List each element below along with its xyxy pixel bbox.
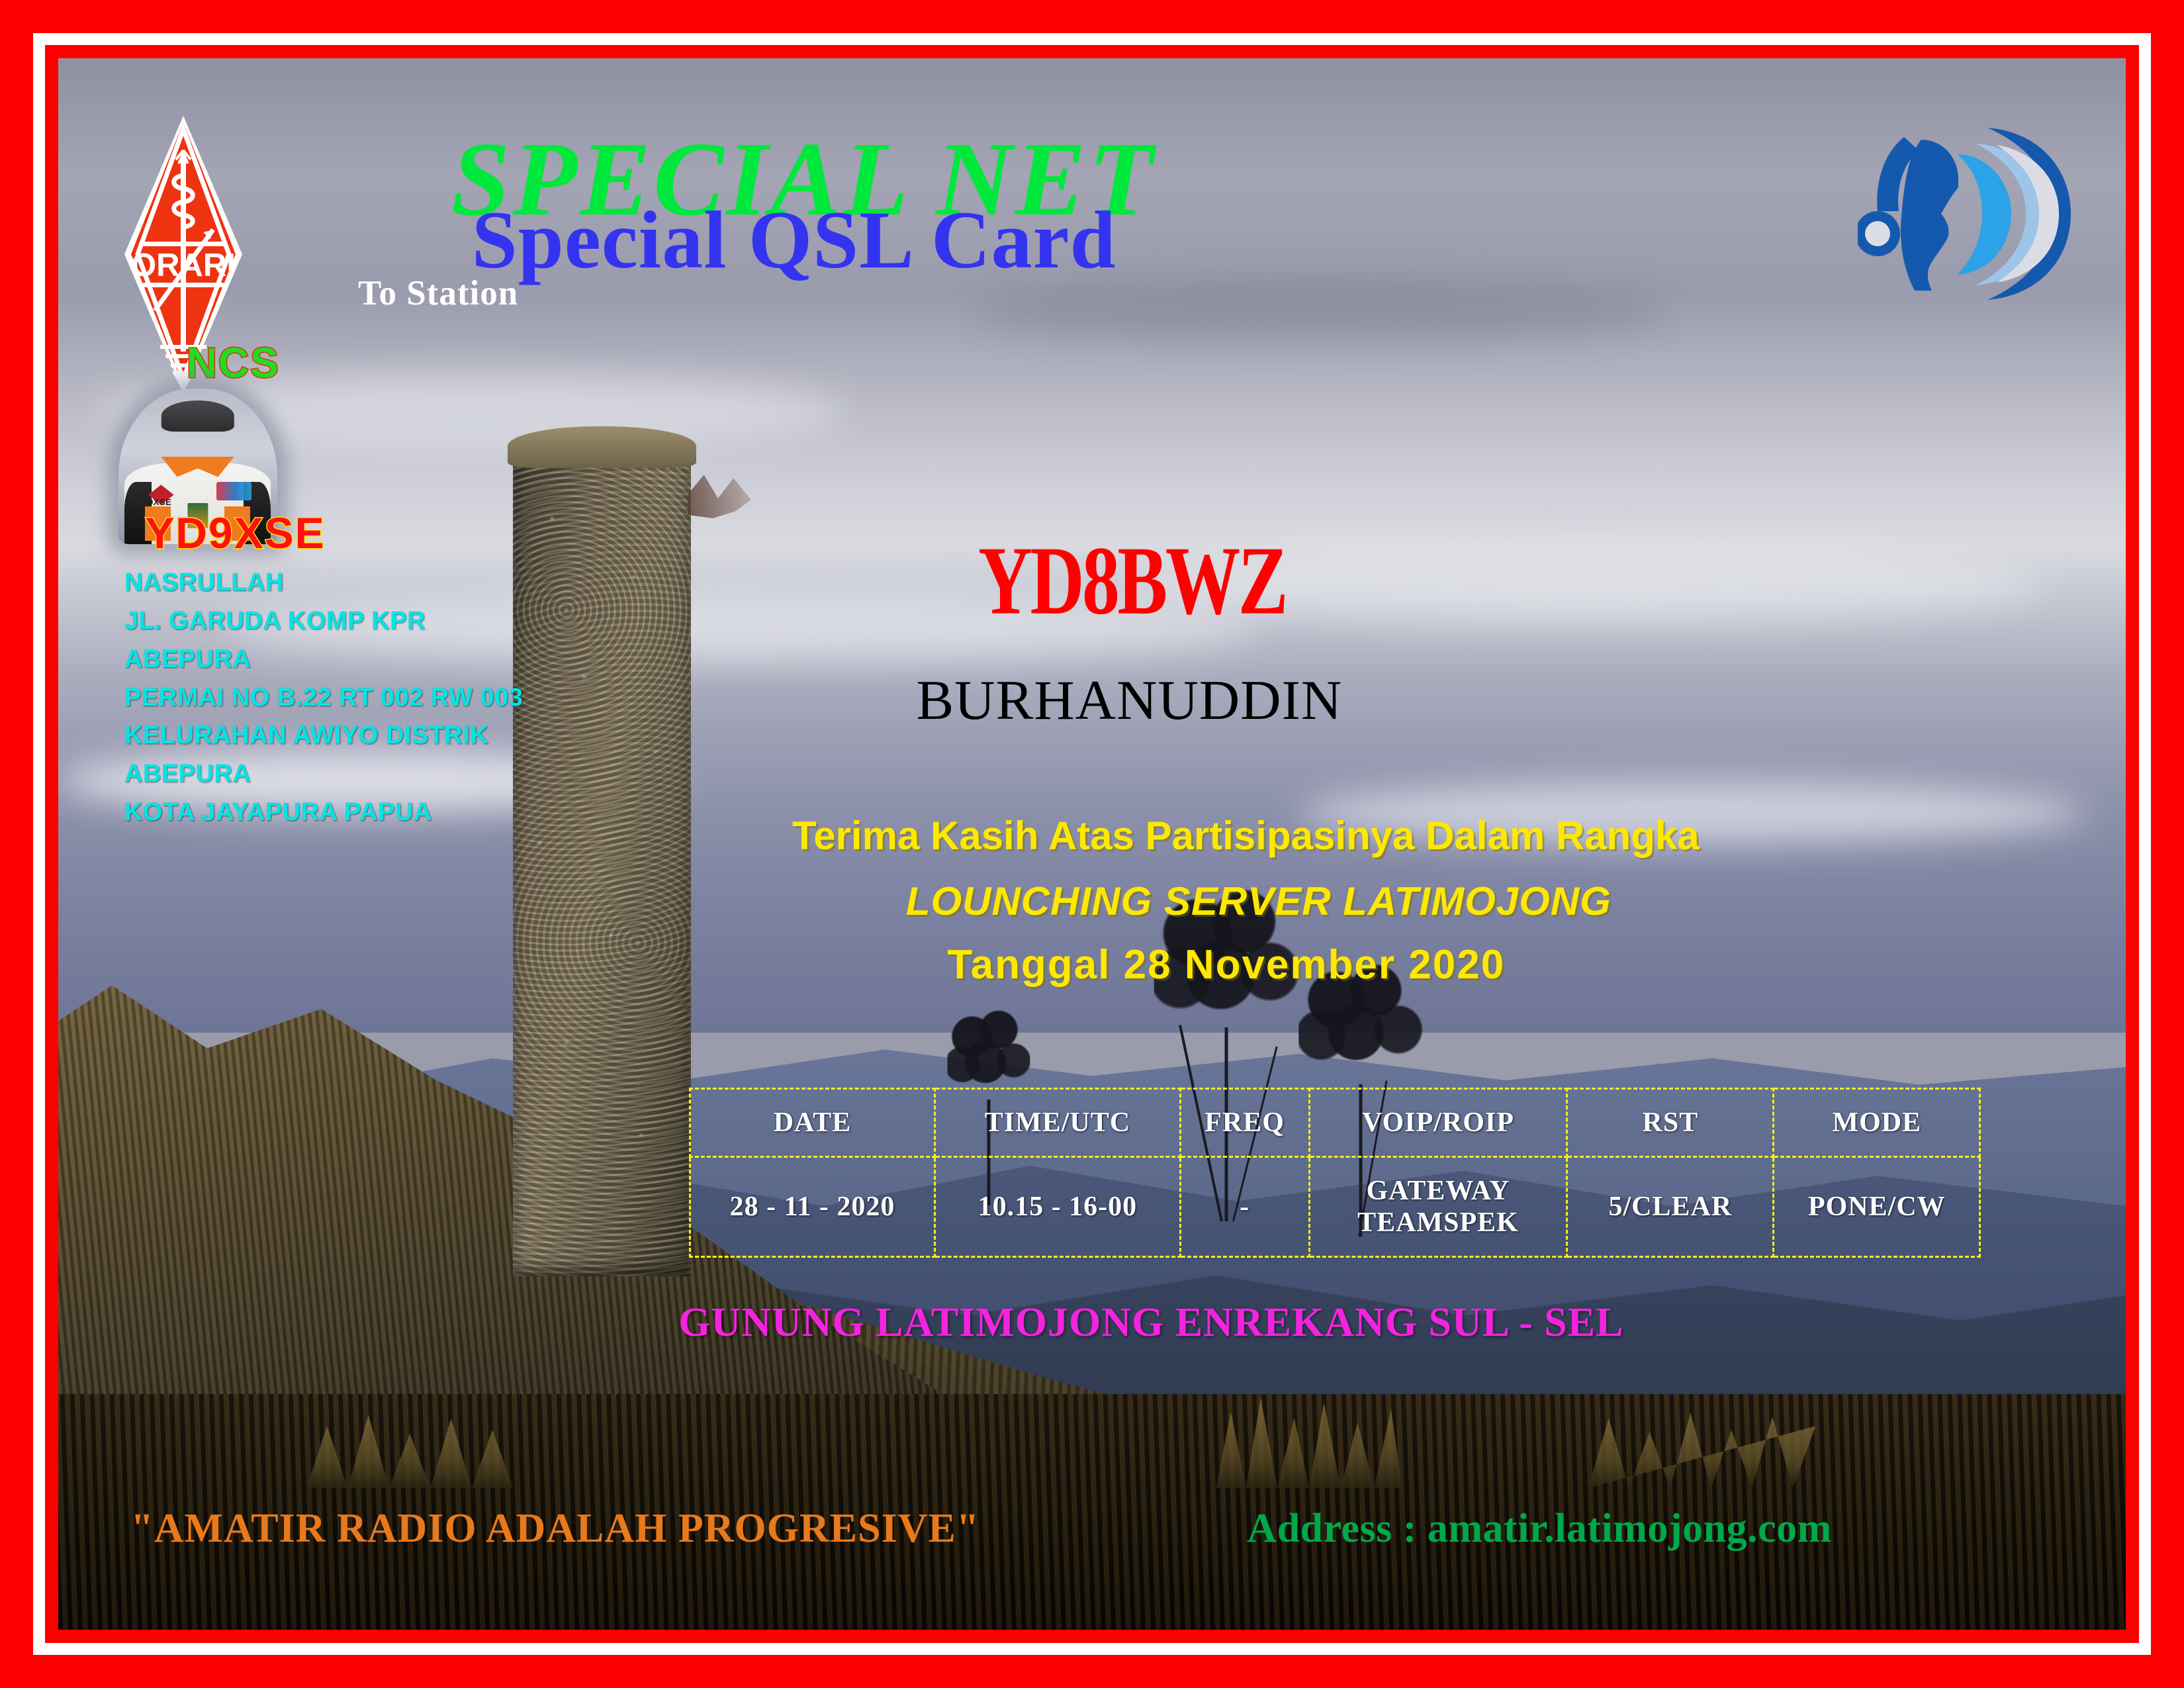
cell-voip-line1: GATEWAY <box>1314 1175 1563 1207</box>
cell-time: 10.15 - 16-00 <box>935 1156 1180 1256</box>
address-line: PERMAI NO B.22 RT 002 RW 003 <box>124 679 523 718</box>
qsl-card: ORARI <box>0 0 2184 1688</box>
card-content: ORARI <box>58 58 2126 1630</box>
cell-mode: PONE/CW <box>1774 1156 1980 1256</box>
thanks-line-2: LOUNCHING SERVER LATIMOJONG <box>906 878 1612 924</box>
cell-rst: 5/CLEAR <box>1567 1156 1774 1256</box>
address-line: ABEPURA <box>124 755 523 794</box>
qso-log-table: DATE TIME/UTC FREQ VOIP/ROIP RST MODE 28… <box>689 1088 1981 1258</box>
thanks-line-1: Terima Kasih Atas Partisipasinya Dalam R… <box>792 813 1700 859</box>
column-header-time: TIME/UTC <box>935 1088 1180 1156</box>
station-callsign: YD8BWZ <box>978 524 1286 637</box>
white-frame: ORARI <box>33 33 2151 1655</box>
cell-freq: - <box>1180 1156 1309 1256</box>
background-photo: ORARI <box>58 58 2126 1630</box>
red-inner-frame: ORARI <box>45 45 2139 1643</box>
cell-voip: GATEWAY TEAMSPEK <box>1309 1156 1567 1256</box>
ncs-callsign: YD9XSE <box>145 508 325 558</box>
cell-date: 28 - 11 - 2020 <box>690 1156 934 1256</box>
thanks-line-3: Tanggal 28 November 2020 <box>947 941 1505 988</box>
event-location: GUNUNG LATIMOJONG ENREKANG SUL - SEL <box>678 1299 1623 1346</box>
web-address: Address : amatir.latimojong.com <box>1247 1505 1831 1552</box>
mailing-address: NASRULLAH JL. GARUDA KOMP KPR ABEPURA PE… <box>124 564 523 831</box>
table-header-row: DATE TIME/UTC FREQ VOIP/ROIP RST MODE <box>690 1088 1980 1156</box>
page-subtitle: Special QSL Card <box>472 193 1116 287</box>
address-line: KELURAHAN AWIYO DISTRIK <box>124 717 523 755</box>
address-line: JL. GARUDA KOMP KPR <box>124 602 523 641</box>
club-motto: "AMATIR RADIO ADALAH PROGRESIVE" <box>130 1505 979 1552</box>
address-line: ABEPURA <box>124 641 523 679</box>
orari-logo-text: ORARI <box>131 248 236 283</box>
ncs-label: NCS <box>187 338 280 387</box>
column-header-rst: RST <box>1567 1088 1774 1156</box>
address-line: NASRULLAH <box>124 564 523 602</box>
photo-emblem <box>216 482 251 500</box>
to-station-label: To Station <box>358 273 518 313</box>
column-header-voip: VOIP/ROIP <box>1309 1088 1567 1156</box>
column-header-freq: FREQ <box>1180 1088 1309 1156</box>
column-header-date: DATE <box>690 1088 934 1156</box>
column-header-mode: MODE <box>1774 1088 1980 1156</box>
photo-shirt-callsign: YD9XSE <box>136 497 171 507</box>
operator-name: BURHANUDDIN <box>916 668 1342 733</box>
cell-voip-line2: TEAMSPEK <box>1314 1207 1563 1239</box>
address-line: KOTA JAYAPURA PAPUA <box>124 794 523 832</box>
headset-waves-icon <box>1858 105 2076 304</box>
table-row: 28 - 11 - 2020 10.15 - 16-00 - GATEWAY T… <box>690 1156 1980 1256</box>
